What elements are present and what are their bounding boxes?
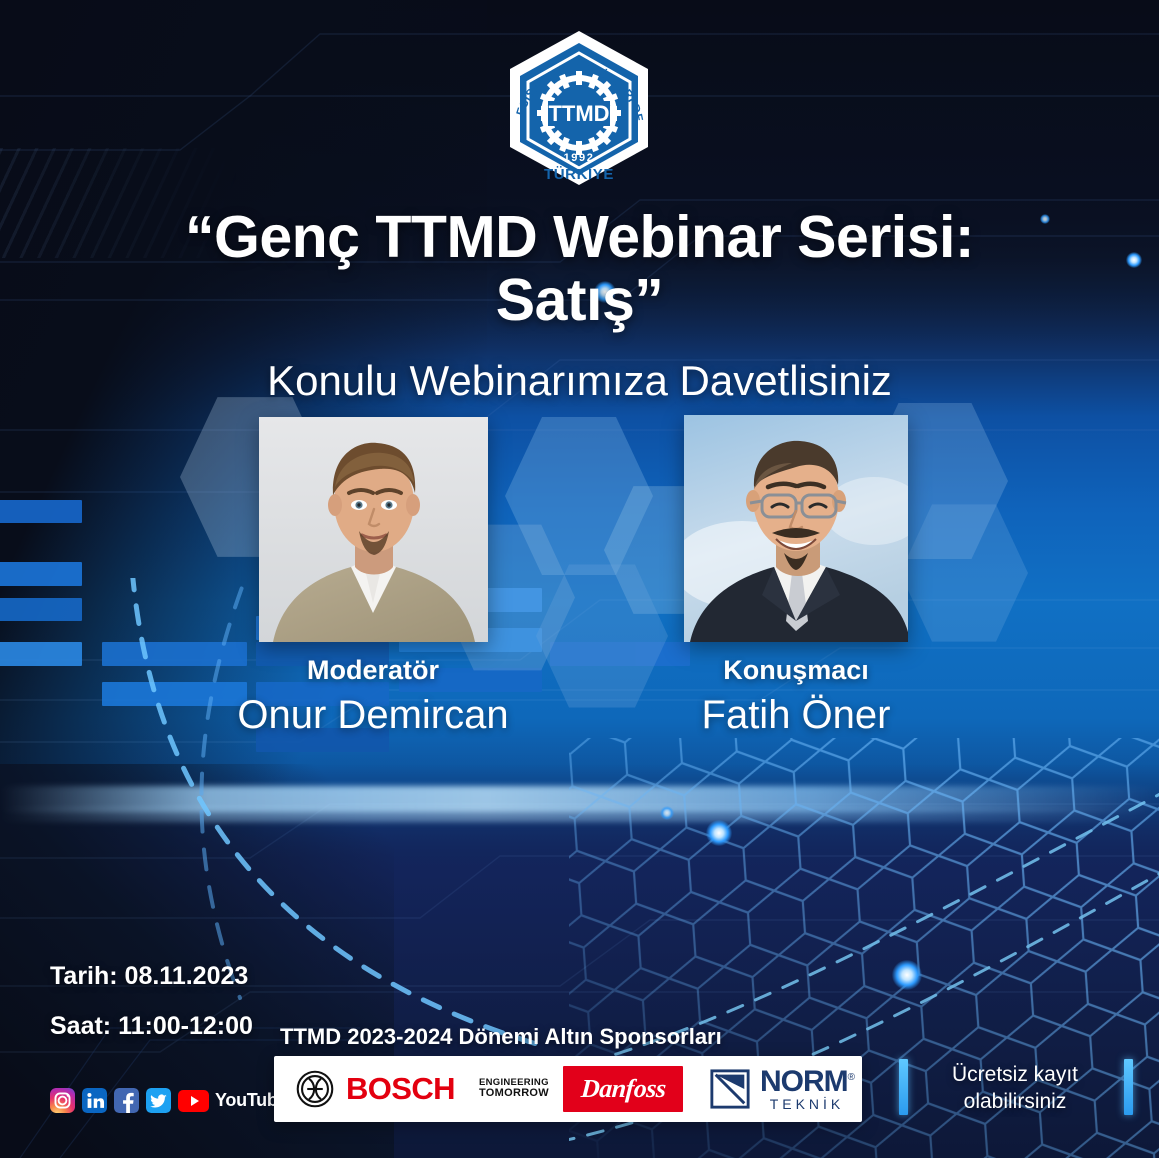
title-line-2: Satış” bbox=[0, 269, 1159, 332]
page-title: “Genç TTMD Webinar Serisi: Satış” bbox=[0, 206, 1159, 331]
social-links: YouTube bbox=[50, 1088, 287, 1113]
sponsor-bosch: BOSCH bbox=[296, 1056, 455, 1122]
instagram-icon[interactable] bbox=[50, 1088, 75, 1113]
registration-note: Ücretsiz kayıt olabilirsiniz bbox=[895, 1053, 1135, 1125]
ttmd-logo: TÜRK TESİSAT MÜHENDİSLERİ DERNEĞİ bbox=[503, 27, 655, 194]
facebook-icon[interactable] bbox=[114, 1088, 139, 1113]
bosch-tagline-line2: TOMORROW bbox=[479, 1088, 549, 1100]
registration-line-1: Ücretsiz kayıt bbox=[952, 1062, 1078, 1089]
registration-line-2: olabilirsiniz bbox=[952, 1089, 1078, 1116]
bosch-logo-icon bbox=[296, 1070, 334, 1108]
moderator-role-label: Moderatör bbox=[193, 655, 553, 686]
moderator-name: Onur Demircan bbox=[193, 693, 553, 738]
norm-wordmark: NORM® bbox=[760, 1065, 854, 1098]
play-triangle-icon bbox=[191, 1096, 199, 1106]
linkedin-icon[interactable] bbox=[82, 1088, 107, 1113]
bosch-wordmark: BOSCH bbox=[346, 1071, 455, 1107]
page-subtitle: Konulu Webinarımıza Davetlisiniz bbox=[0, 357, 1159, 405]
event-date: Tarih: 08.11.2023 bbox=[50, 962, 248, 991]
logo-center-text: TTMD bbox=[548, 101, 609, 126]
bosch-tagline: ENGINEERING TOMORROW bbox=[479, 1078, 549, 1100]
glow-dot-streak bbox=[660, 806, 674, 820]
sponsor-danfoss: Danfoss bbox=[563, 1066, 683, 1112]
moderator-photo bbox=[259, 417, 488, 642]
webinar-poster: TÜRK TESİSAT MÜHENDİSLERİ DERNEĞİ bbox=[0, 0, 1159, 1158]
logo-year: 1992 bbox=[564, 152, 595, 164]
speaker-name: Fatih Öner bbox=[616, 693, 976, 738]
norm-subword: TEKNİK bbox=[760, 1097, 854, 1111]
logo-country: TÜRKİYE bbox=[544, 166, 614, 183]
speaker-photo bbox=[684, 415, 908, 642]
youtube-play-badge bbox=[178, 1090, 209, 1112]
sponsor-norm-teknik: NORM® TEKNİK bbox=[709, 1056, 854, 1122]
event-time: Saat: 11:00-12:00 bbox=[50, 1012, 253, 1041]
sponsors-heading: TTMD 2023-2024 Dönemi Altın Sponsorları bbox=[280, 1024, 722, 1050]
danfoss-wordmark: Danfoss bbox=[580, 1074, 667, 1104]
sponsors-bar: BOSCH ENGINEERING TOMORROW Danfoss NORM®… bbox=[274, 1056, 862, 1122]
norm-logo-icon bbox=[709, 1068, 751, 1110]
twitter-icon[interactable] bbox=[146, 1088, 171, 1113]
glow-dot-mesh-left bbox=[706, 820, 732, 846]
glow-dot-mesh-center bbox=[892, 960, 922, 990]
registered-mark: ® bbox=[848, 1072, 854, 1083]
youtube-icon[interactable]: YouTube bbox=[178, 1090, 287, 1112]
title-line-1: “Genç TTMD Webinar Serisi: bbox=[185, 204, 974, 270]
speaker-role-label: Konuşmacı bbox=[616, 655, 976, 686]
